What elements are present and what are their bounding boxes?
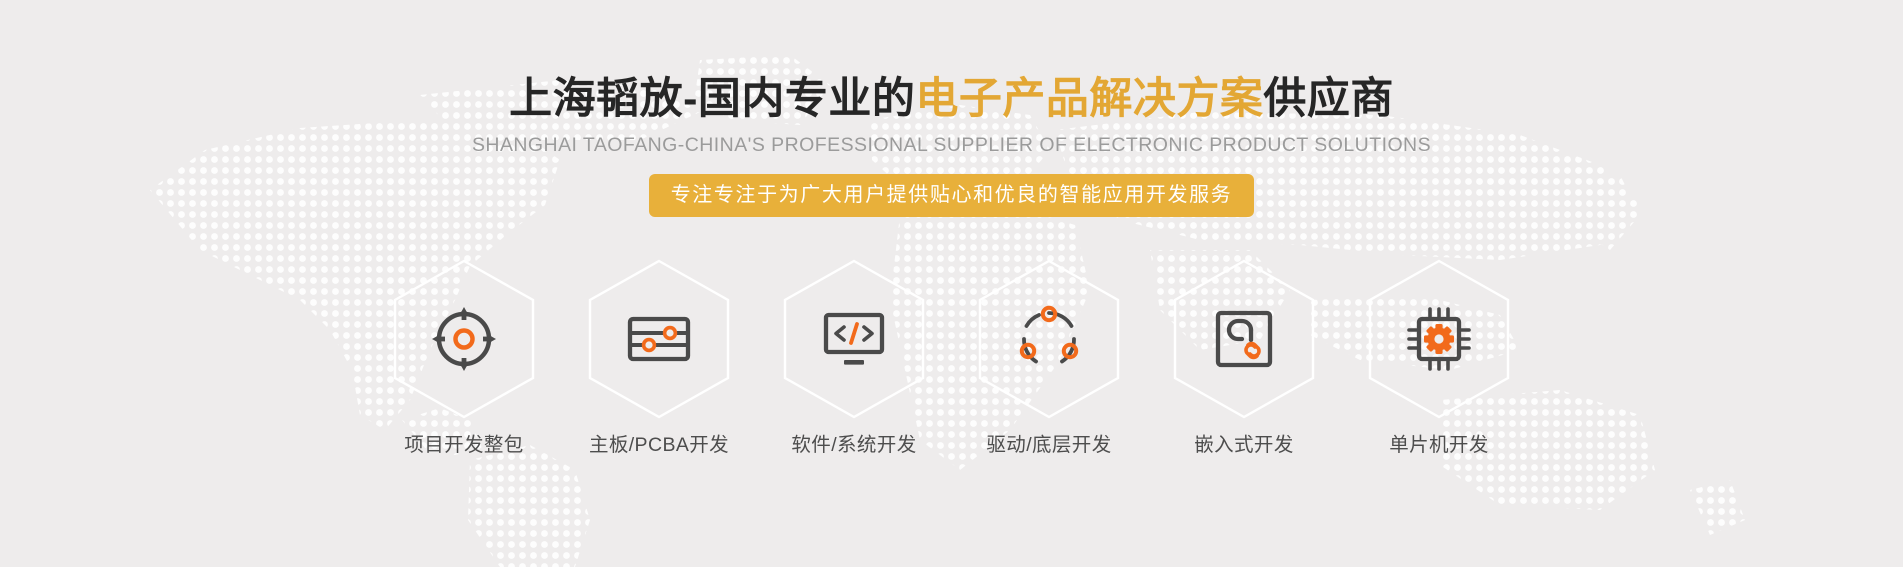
hexagon-frame <box>780 258 928 420</box>
page-title: 上海韬放-国内专业的电子产品解决方案供应商 <box>0 74 1903 125</box>
feature-label: 单片机开发 <box>1389 436 1489 456</box>
feature-label: 项目开发整包 <box>404 436 523 456</box>
embedded-link-icon <box>1208 303 1280 375</box>
hexagon-frame <box>1170 258 1318 420</box>
feature-label: 软件/系统开发 <box>791 436 916 456</box>
headline-block: 上海韬放-国内专业的电子产品解决方案供应商 SHANGHAI TAOFANG-C… <box>0 74 1903 217</box>
headline-part1: 上海韬放-国内专业的 <box>509 75 915 123</box>
tagline-badge: 专注专注于为广大用户提供贴心和优良的智能应用开发服务 <box>649 174 1255 217</box>
node-network-icon <box>1013 303 1085 375</box>
feature-item-software[interactable]: 软件/系统开发 <box>773 258 935 456</box>
hexagon-frame <box>1365 258 1513 420</box>
feature-list: 项目开发整包 主板/PCBA开发 <box>0 258 1903 456</box>
feature-label: 驱动/底层开发 <box>986 436 1111 456</box>
feature-item-project-package[interactable]: 项目开发整包 <box>383 258 545 456</box>
headline-accent: 电子产品解决方案 <box>915 75 1263 123</box>
hexagon-frame <box>390 258 538 420</box>
crosshair-target-icon <box>428 303 500 375</box>
feature-label: 嵌入式开发 <box>1194 436 1294 456</box>
monitor-code-icon <box>818 303 890 375</box>
hexagon-frame <box>585 258 733 420</box>
hero-banner: 上海韬放-国内专业的电子产品解决方案供应商 SHANGHAI TAOFANG-C… <box>0 0 1903 567</box>
microchip-gear-icon <box>1403 303 1475 375</box>
feature-label: 主板/PCBA开发 <box>589 436 729 456</box>
feature-item-mcu[interactable]: 单片机开发 <box>1358 258 1520 456</box>
page-subtitle: SHANGHAI TAOFANG-CHINA'S PROFESSIONAL SU… <box>0 134 1903 157</box>
hexagon-frame <box>975 258 1123 420</box>
badge-row: 专注专注于为广大用户提供贴心和优良的智能应用开发服务 <box>0 174 1903 217</box>
circuit-board-icon <box>623 303 695 375</box>
feature-item-pcba[interactable]: 主板/PCBA开发 <box>578 258 740 456</box>
feature-item-driver[interactable]: 驱动/底层开发 <box>968 258 1130 456</box>
headline-part2: 供应商 <box>1263 75 1394 123</box>
feature-item-embedded[interactable]: 嵌入式开发 <box>1163 258 1325 456</box>
